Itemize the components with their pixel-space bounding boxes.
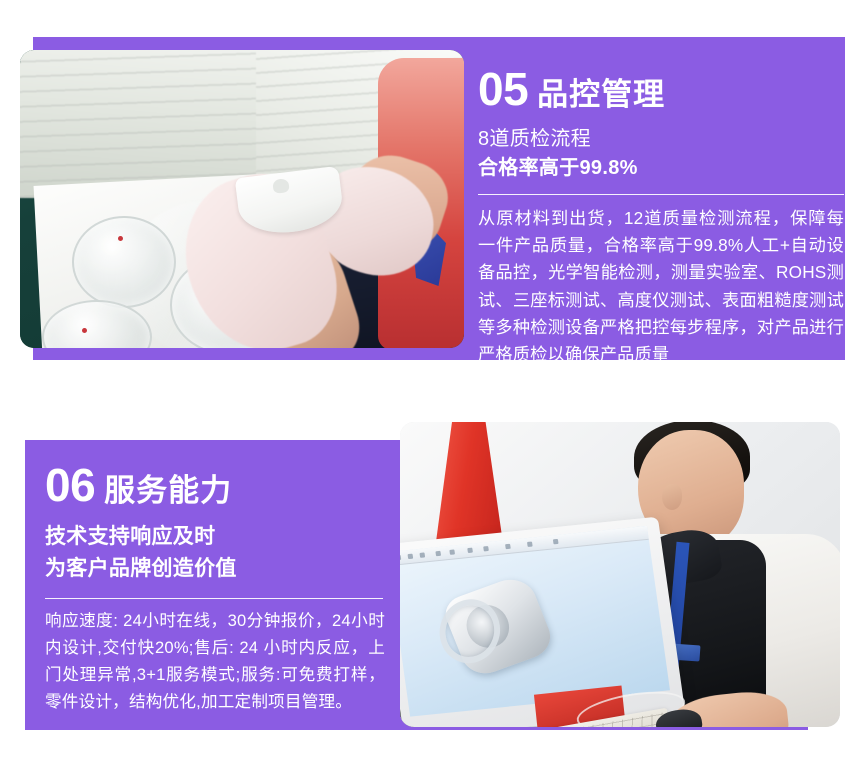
toolbar-icon (505, 544, 511, 549)
card-05-subtitle: 8道质检流程 合格率高于99.8% (478, 125, 844, 183)
cad-screen (400, 526, 670, 717)
card-06-body: 响应速度: 24小时在线，30分钟报价，24小时内设计,交付快20%;售后: 2… (45, 608, 385, 716)
feature-card-05: 05 品控管理 8道质检流程 合格率高于99.8% 从原材料到出货，12道质量检… (0, 0, 860, 400)
card-05-body: 从原材料到出货，12道质量检测流程，保障每一件产品质量，合格率高于99.8%人工… (478, 205, 844, 368)
red-marker-dot-1 (118, 236, 123, 241)
card-05-divider (478, 194, 844, 195)
card-06-photo (400, 422, 840, 727)
quality-inspection-photo (20, 50, 464, 348)
toolbar-icon (435, 551, 441, 556)
engineering-service-photo (400, 422, 840, 727)
card-05-text-block: 05 品控管理 8道质检流程 合格率高于99.8% 从原材料到出货，12道质量检… (478, 66, 844, 368)
clear-disc-part-1 (72, 216, 176, 308)
card-05-subtitle-line-2: 合格率高于99.8% (478, 154, 844, 183)
toolbar-icon (449, 549, 455, 554)
card-06-heading-row: 06 服务能力 (45, 462, 385, 508)
card-06-subtitle-line-1: 技术支持响应及时 (45, 521, 385, 553)
product-detail-page: 05 品控管理 8道质检流程 合格率高于99.8% 从原材料到出货，12道质量检… (0, 0, 860, 780)
card-06-subtitle: 技术支持响应及时 为客户品牌创造价值 (45, 521, 385, 584)
toolbar-icon (483, 546, 489, 551)
card-05-photo (20, 50, 464, 348)
card-06-subtitle-line-2: 为客户品牌创造价值 (45, 553, 385, 585)
toolbar-icon (553, 539, 559, 544)
card-06-headline: 服务能力 (104, 475, 232, 506)
toolbar-icon (408, 554, 414, 559)
toolbar-icon (400, 555, 401, 560)
card-05-number: 05 (478, 66, 528, 112)
toolbar-icon (419, 552, 425, 557)
card-06-text-block: 06 服务能力 技术支持响应及时 为客户品牌创造价值 响应速度: 24小时在线，… (45, 462, 385, 716)
red-marker-dot-2 (82, 328, 87, 333)
card-06-number: 06 (45, 462, 95, 508)
card-06-divider (45, 598, 383, 599)
card-05-heading-row: 05 品控管理 (478, 66, 844, 112)
card-05-headline: 品控管理 (537, 79, 665, 110)
toolbar-icon (467, 548, 473, 553)
feature-card-06: 06 服务能力 技术支持响应及时 为客户品牌创造价值 响应速度: 24小时在线，… (0, 400, 860, 780)
toolbar-icon (527, 542, 533, 547)
engineer-ear (662, 484, 682, 510)
card-05-subtitle-line-1: 8道质检流程 (478, 125, 844, 154)
